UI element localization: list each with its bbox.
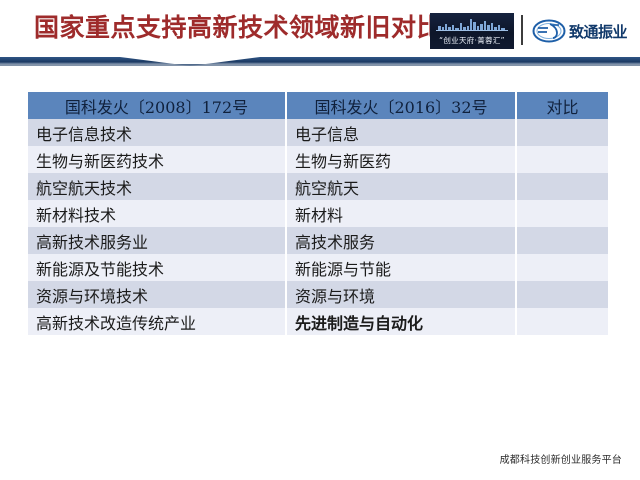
- column-header-new: 国科发火〔2016〕32号: [286, 92, 516, 119]
- cell-old: 资源与环境技术: [28, 281, 286, 308]
- cell-old: 电子信息技术: [28, 119, 286, 146]
- cell-old: 生物与新医药技术: [28, 146, 286, 173]
- cell-compare: [516, 281, 608, 308]
- table-row: 新能源及节能技术 新能源与节能: [28, 254, 608, 281]
- page-title: 国家重点支持高新技术领域新旧对比: [34, 12, 442, 44]
- cell-compare: [516, 146, 608, 173]
- chengdu-campaign-logo: “创业天府·菁蓉汇”: [430, 13, 514, 49]
- cell-compare: [516, 200, 608, 227]
- cell-old: 新能源及节能技术: [28, 254, 286, 281]
- table-header-row: 国科发火〔2008〕172号 国科发火〔2016〕32号 对比: [28, 92, 608, 119]
- chevron-divider: [0, 57, 640, 71]
- table-row: 高新技术改造传统产业 先进制造与自动化: [28, 308, 608, 335]
- cell-compare: [516, 227, 608, 254]
- cell-new: 资源与环境: [286, 281, 516, 308]
- zhitong-logo: 致通振业: [532, 14, 627, 48]
- zhitong-emblem-icon: [532, 19, 566, 43]
- cell-new-highlighted: 先进制造与自动化: [286, 308, 516, 335]
- cell-old: 新材料技术: [28, 200, 286, 227]
- cell-compare: [516, 119, 608, 146]
- city-skyline-icon: [436, 17, 508, 31]
- slide-header: 国家重点支持高新技术领域新旧对比: [0, 0, 640, 58]
- table-row: 新材料技术 新材料: [28, 200, 608, 227]
- table-row: 高新技术服务业 高技术服务: [28, 227, 608, 254]
- cell-new: 新能源与节能: [286, 254, 516, 281]
- cell-new: 新材料: [286, 200, 516, 227]
- cell-new: 电子信息: [286, 119, 516, 146]
- cell-compare: [516, 308, 608, 335]
- cell-new: 高技术服务: [286, 227, 516, 254]
- zhitong-logo-label: 致通振业: [569, 21, 627, 42]
- table-row: 资源与环境技术 资源与环境: [28, 281, 608, 308]
- table-row: 电子信息技术 电子信息: [28, 119, 608, 146]
- chengdu-campaign-label: “创业天府·菁蓉汇”: [430, 35, 514, 46]
- table-row: 航空航天技术 航空航天: [28, 173, 608, 200]
- column-header-old: 国科发火〔2008〕172号: [28, 92, 286, 119]
- cell-old: 航空航天技术: [28, 173, 286, 200]
- cell-old: 高新技术服务业: [28, 227, 286, 254]
- table-row: 生物与新医药技术 生物与新医药: [28, 146, 608, 173]
- footer-platform-label: 成都科技创新创业服务平台: [500, 451, 622, 466]
- cell-old: 高新技术改造传统产业: [28, 308, 286, 335]
- cell-compare: [516, 254, 608, 281]
- cell-new: 生物与新医药: [286, 146, 516, 173]
- comparison-table: 国科发火〔2008〕172号 国科发火〔2016〕32号 对比 电子信息技术 电…: [28, 92, 608, 335]
- cell-compare: [516, 173, 608, 200]
- cell-new: 航空航天: [286, 173, 516, 200]
- column-header-compare: 对比: [516, 92, 608, 119]
- logo-separator: [521, 15, 523, 45]
